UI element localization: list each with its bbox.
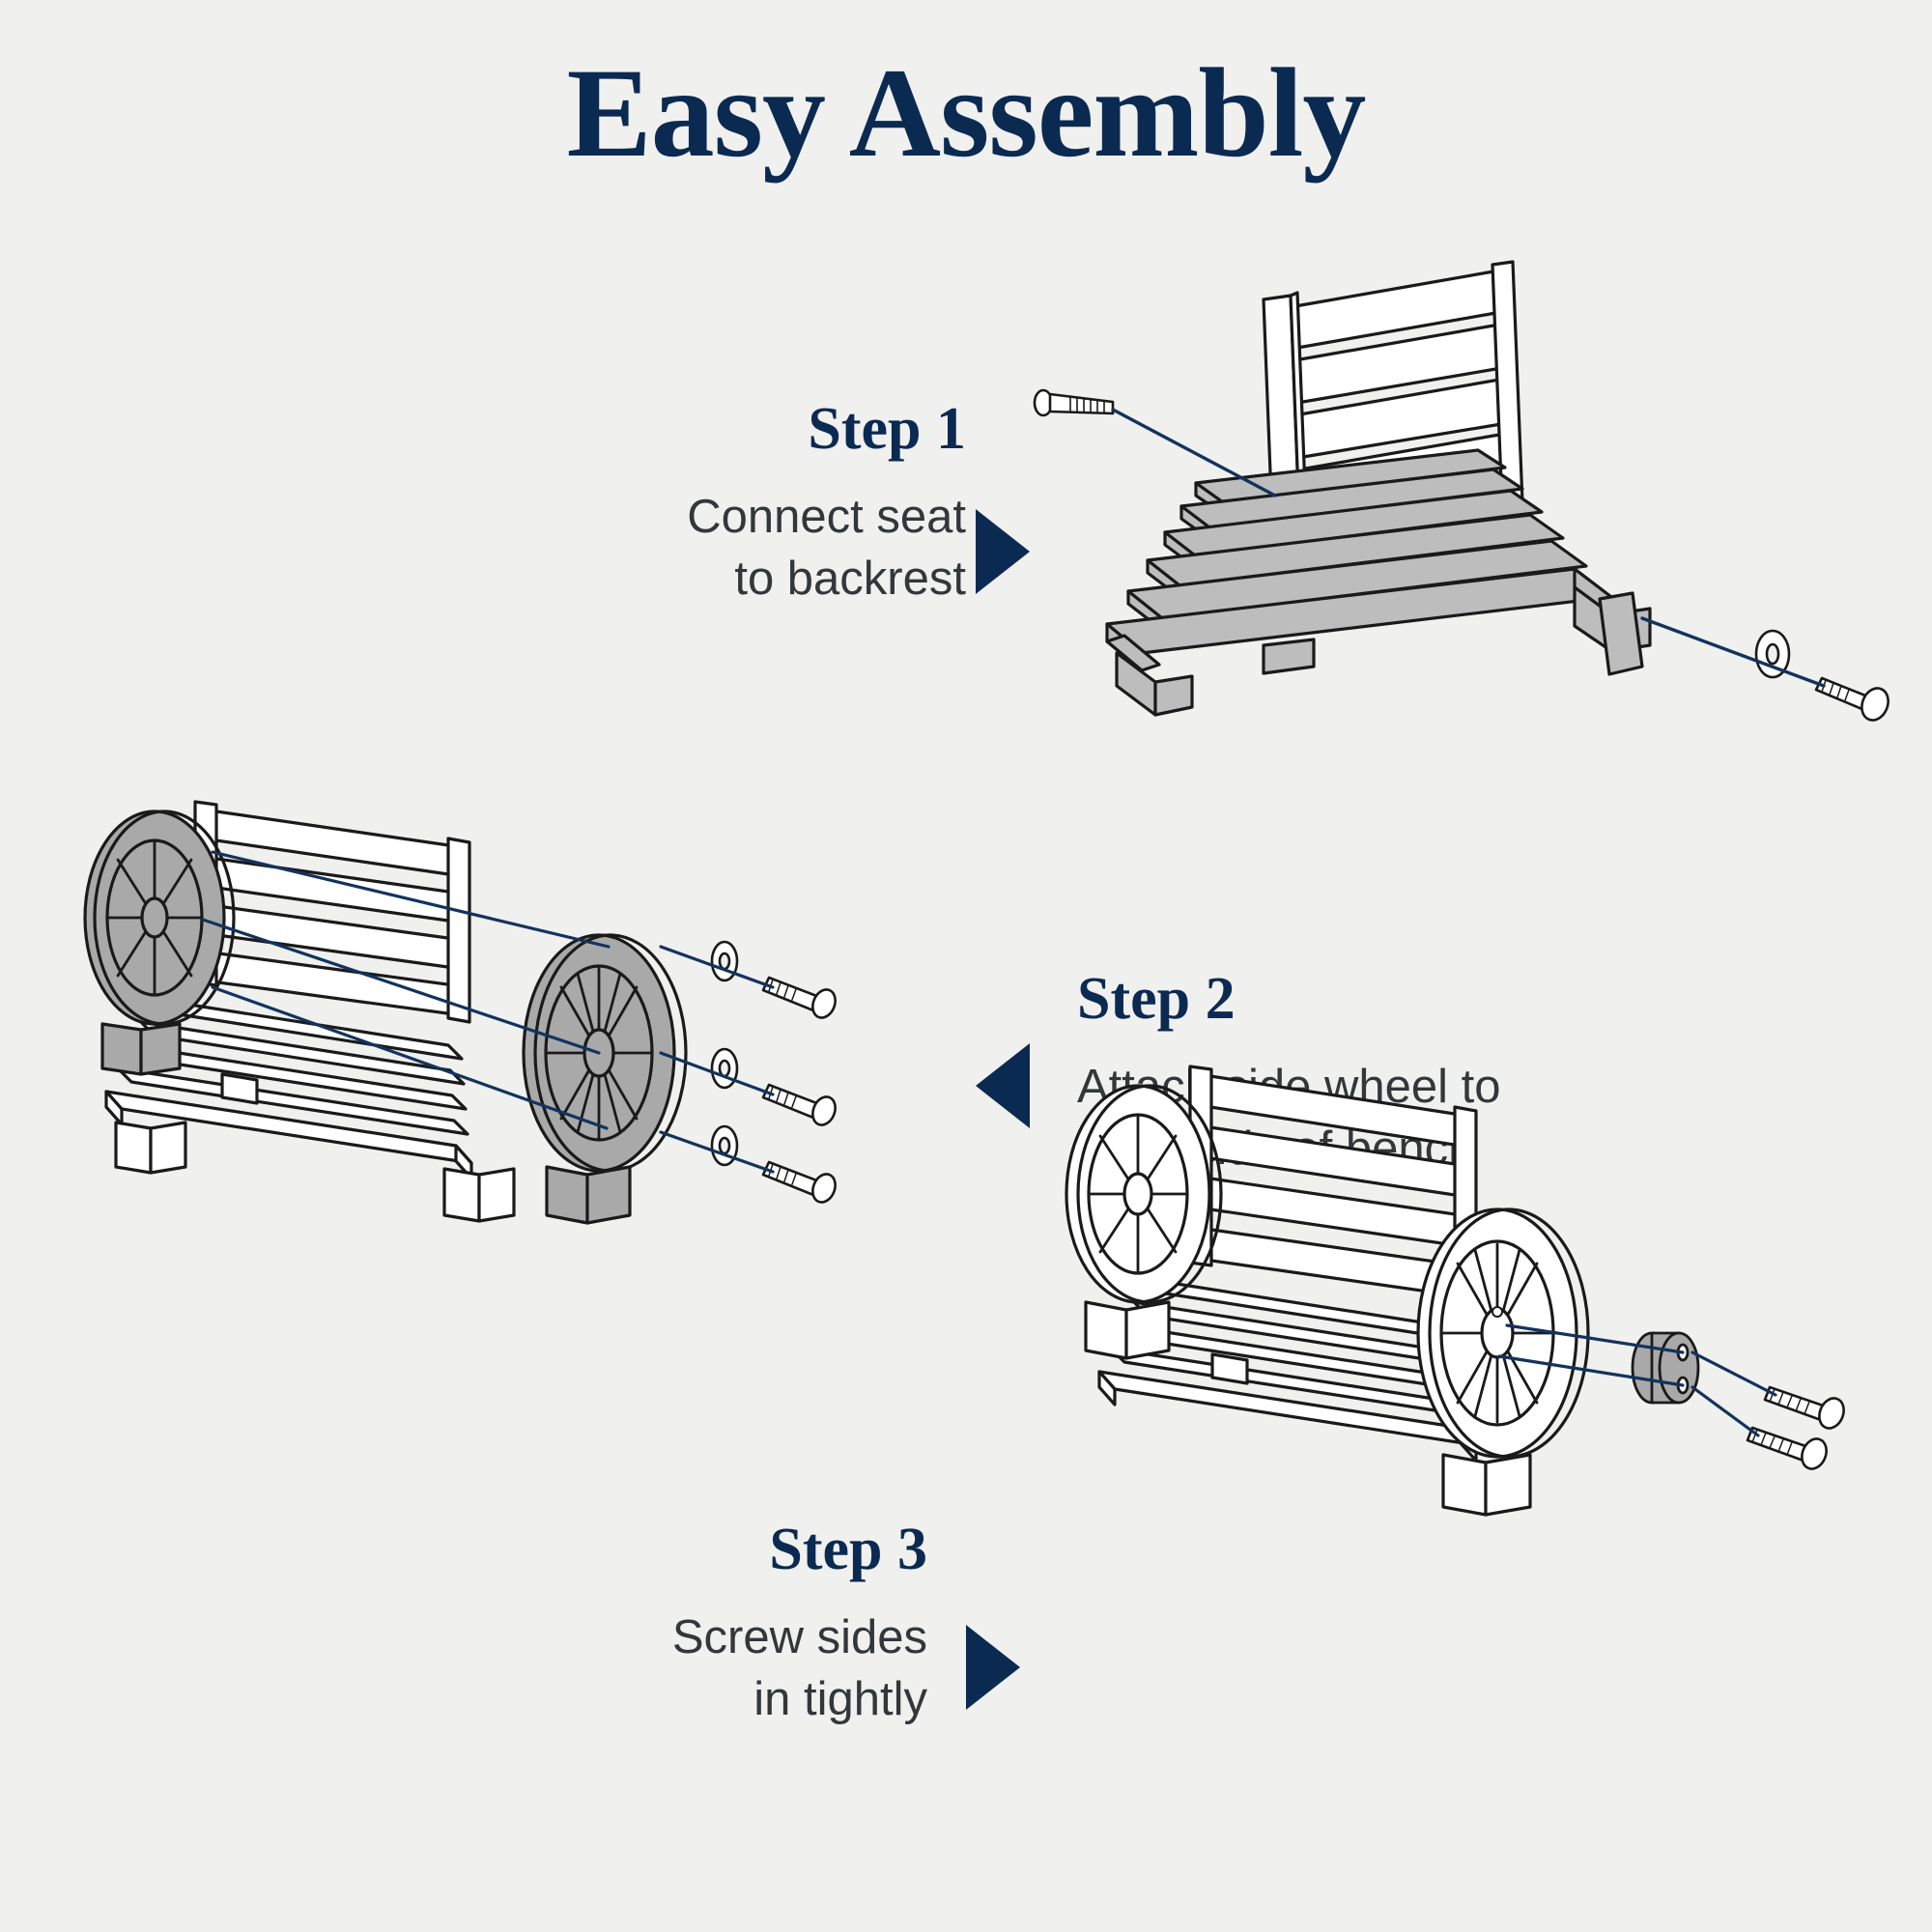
arrow-right-icon: [966, 1625, 1020, 1710]
step-1-heading: Step 1: [290, 396, 966, 462]
step-2-heading: Step 2: [1077, 966, 1811, 1032]
step-1-illustration: [1024, 261, 1893, 840]
step-3-illustration: [1053, 1043, 1903, 1546]
arrow-right-icon: [976, 509, 1030, 594]
step-2-illustration: [58, 763, 1024, 1265]
step-3-heading: Step 3: [251, 1517, 927, 1582]
step-1-text-block: Step 1 Connect seat to backrest: [290, 396, 966, 611]
step-1-body: Connect seat to backrest: [290, 487, 966, 610]
step-3-body: Screw sides in tightly: [251, 1607, 927, 1730]
step-3-text-block: Step 3 Screw sides in tightly: [251, 1517, 927, 1731]
assembly-instructions-page: Easy Assembly Step 1 Connect seat to bac…: [0, 0, 1932, 1932]
page-title: Easy Assembly: [0, 46, 1932, 181]
